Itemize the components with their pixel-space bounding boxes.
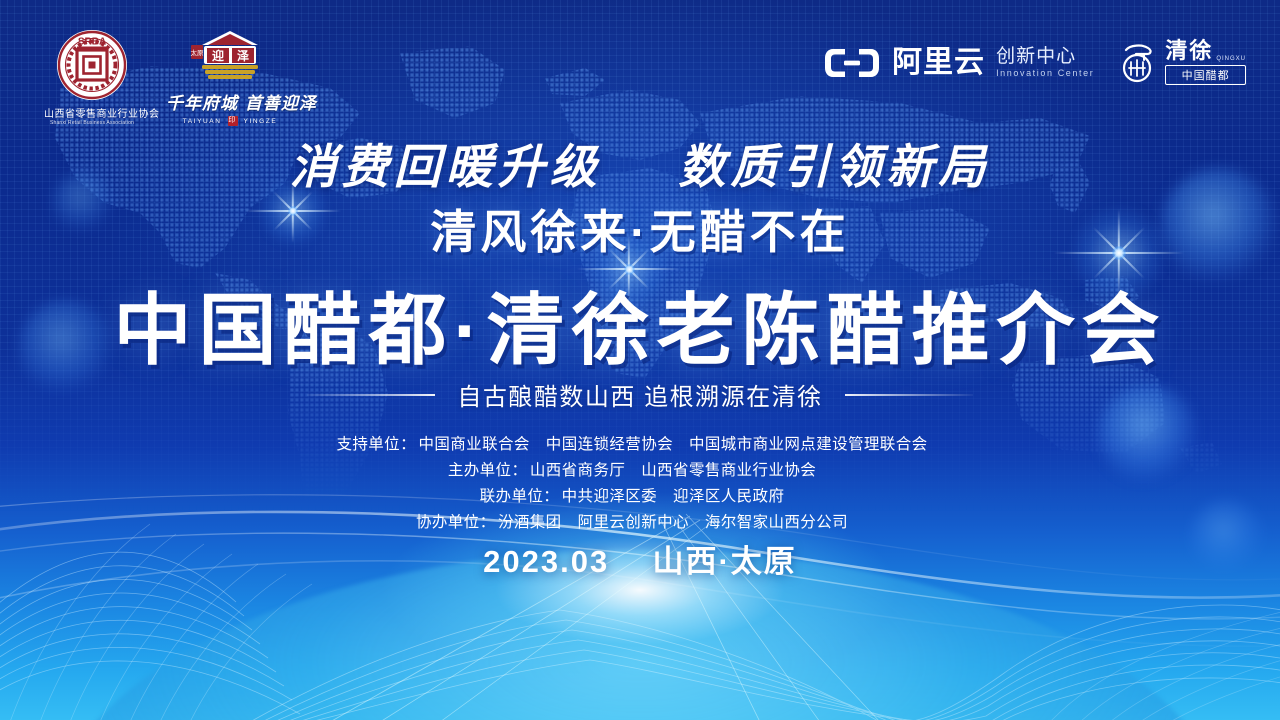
- srba-emblem-icon: SRBA: [55, 28, 129, 102]
- main-title: 中国醋都·清徐老陈醋推介会: [0, 268, 1280, 380]
- organization-name: 海尔智家山西分公司: [705, 510, 848, 532]
- event-poster: SRBA 山西省零售商业行业协会 Shanxi Retail Business …: [0, 0, 1280, 720]
- svg-text:泽: 泽: [237, 49, 249, 63]
- organization-values: 中国商业联合会中国连锁经营协会中国城市商业网点建设管理联合会: [418, 432, 943, 454]
- qingxu-text-block: 清徐 QINGXU 中国醋都: [1165, 40, 1246, 85]
- logo-qingxu-vinegar-capital: 清徐 QINGXU 中国醋都: [1118, 40, 1246, 85]
- logo-aliyun-innovation-center: 阿里云 创新中心 Innovation Center: [823, 46, 1094, 80]
- organization-name: 阿里云创新中心: [578, 510, 689, 532]
- aliyun-bracket-icon: [823, 46, 881, 80]
- organization-name: 中国商业联合会: [418, 432, 529, 454]
- event-location: 山西·太原: [652, 544, 796, 579]
- aliyun-brand-cn: 阿里云: [892, 48, 985, 78]
- yingze-pinyin-right: YINGZE: [244, 118, 278, 125]
- organization-name: 迎泽区人民政府: [673, 484, 784, 506]
- logo-shanxi-retail-business-association: SRBA 山西省零售商业行业协会 Shanxi Retail Business …: [44, 28, 140, 126]
- sponsor-logos-left: SRBA 山西省零售商业行业协会 Shanxi Retail Business …: [44, 28, 294, 126]
- tagline-divider-right: [845, 394, 973, 396]
- yingze-slogan: 千年府城 首善迎泽: [166, 89, 294, 114]
- qingxu-brand-cn: 清徐: [1165, 40, 1213, 62]
- organization-name: 中国城市商业网点建设管理联合会: [689, 432, 928, 454]
- organization-values: 中共迎泽区委迎泽区人民政府: [562, 484, 801, 506]
- brush-title-right: 数质引领新局: [678, 140, 990, 195]
- subtitle-slogan: 清风徐来·无醋不在: [0, 196, 1280, 262]
- organization-values: 山西省商务厅山西省零售商业行业协会: [530, 458, 832, 480]
- logo-taiyuan-yingze: 迎 泽 太原 千年府城 首善迎泽 TAIYUAN 印 YINGZE: [166, 28, 294, 126]
- tagline-divider-left: [307, 394, 435, 396]
- brush-title: 消费回暖升级 数质引领新局: [0, 128, 1280, 197]
- organization-row: 支持单位：中国商业联合会中国连锁经营协会中国城市商业网点建设管理联合会: [336, 432, 943, 454]
- qingxu-seal-icon: [1118, 41, 1158, 85]
- srba-name-cn: 山西省零售商业行业协会: [44, 105, 140, 120]
- sponsor-logos-right: 阿里云 创新中心 Innovation Center 清徐 QINGXU: [823, 40, 1246, 85]
- yingze-emblem-icon: 迎 泽 太原: [166, 28, 294, 88]
- svg-text:太原: 太原: [191, 48, 205, 57]
- organization-name: 汾酒集团: [498, 510, 562, 532]
- organization-label: 联办单位：: [480, 484, 562, 506]
- organization-name: 中共迎泽区委: [562, 484, 657, 506]
- qingxu-pinyin: QINGXU: [1216, 56, 1246, 62]
- organization-values: 汾酒集团阿里云创新中心海尔智家山西分公司: [498, 510, 864, 532]
- organization-label: 支持单位：: [336, 432, 418, 454]
- aliyun-sub-cn: 创新中心: [996, 47, 1094, 68]
- svg-text:迎: 迎: [212, 48, 224, 63]
- yingze-pinyin-left: TAIYUAN: [183, 118, 222, 125]
- aliyun-sub-en: Innovation Center: [996, 68, 1094, 79]
- organization-name: 中国连锁经营协会: [546, 432, 673, 454]
- organization-row: 协办单位：汾酒集团阿里云创新中心海尔智家山西分公司: [416, 510, 864, 532]
- organization-name: 山西省商务厅: [530, 458, 625, 480]
- organization-label: 主办单位：: [448, 458, 530, 480]
- tagline-row: 自古酿醋数山西 追根溯源在清徐: [0, 377, 1280, 412]
- qingxu-badge: 中国醋都: [1165, 65, 1246, 85]
- organization-name: 山西省零售商业行业协会: [641, 458, 816, 480]
- tagline-text: 自古酿醋数山西 追根溯源在清徐: [457, 377, 822, 412]
- yingze-pinyin: TAIYUAN 印 YINGZE: [166, 116, 294, 126]
- organization-row: 主办单位：山西省商务厅山西省零售商业行业协会: [448, 458, 832, 480]
- organization-row: 联办单位：中共迎泽区委迎泽区人民政府: [480, 484, 801, 506]
- seal-icon: 印: [228, 116, 238, 126]
- aliyun-sub-block: 创新中心 Innovation Center: [996, 47, 1094, 79]
- srba-name-en: Shanxi Retail Business Association: [46, 120, 138, 126]
- organization-list: 支持单位：中国商业联合会中国连锁经营协会中国城市商业网点建设管理联合会主办单位：…: [0, 432, 1280, 532]
- organization-label: 协办单位：: [416, 510, 498, 532]
- event-date: 2023.03: [483, 544, 609, 579]
- brush-title-left: 消费回暖升级: [290, 140, 602, 195]
- event-footer: 2023.03 山西·太原: [0, 536, 1280, 581]
- svg-text:SRBA: SRBA: [78, 37, 106, 48]
